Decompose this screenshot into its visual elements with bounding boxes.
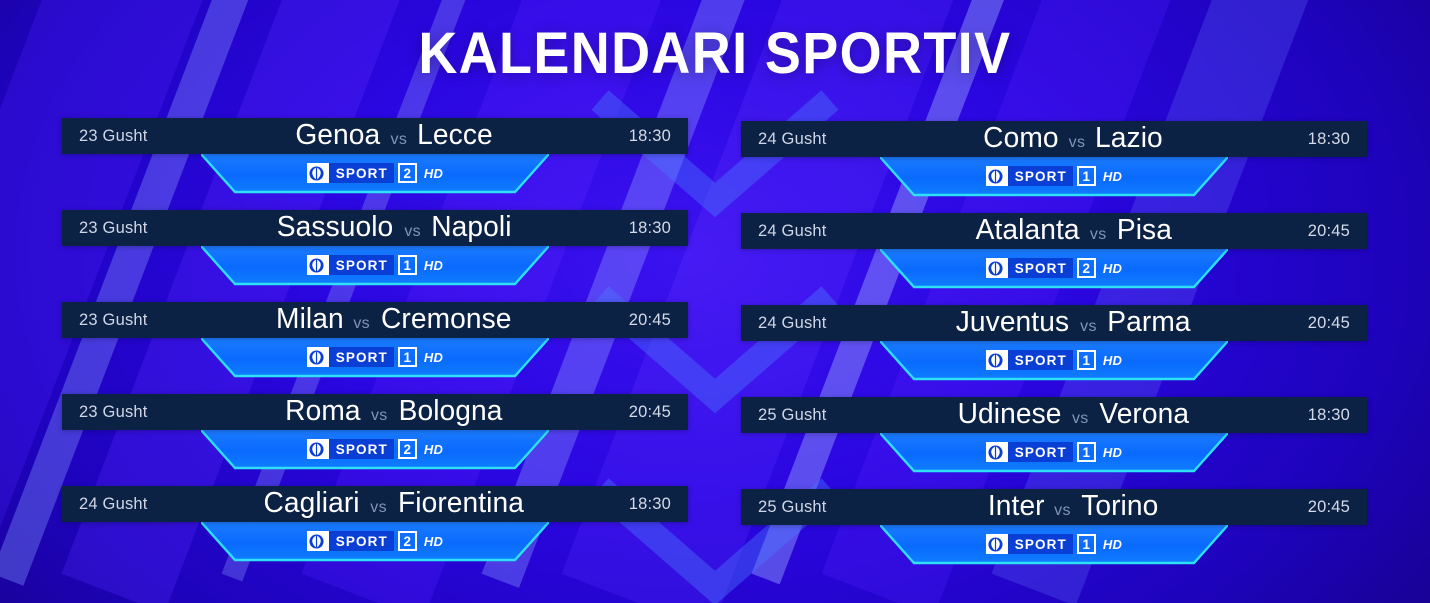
fixture: JuventusvsParma [868,308,1278,337]
channel-banner[interactable]: SPORT2HD [62,154,688,194]
match-date: 23 Gusht [79,403,189,422]
channel-quality: HD [1103,538,1122,551]
home-team: Como [983,124,1058,153]
home-team: Juventus [956,308,1069,337]
channel-banner[interactable]: SPORT1HD [62,246,688,286]
home-team: Udinese [957,400,1061,429]
channel-logo: SPORT2HD [307,531,443,551]
match-date: 23 Gusht [79,311,189,330]
match-row[interactable]: 25 GushtUdinesevsVerona18:30SPORT1HD [741,397,1367,489]
channel-number: 2 [398,531,417,551]
page-title: KALENDARI SPORTIV [418,25,1011,83]
broadcaster-logo-icon [986,534,1006,554]
channel-banner[interactable]: SPORT1HD [741,433,1367,473]
versus-label: vs [353,316,370,332]
left-column: 23 GushtGenoavsLecce18:30SPORT2HD23 Gush… [0,118,715,603]
channel-number: 1 [1077,350,1096,370]
match-date: 24 Gusht [758,314,868,333]
match-date: 24 Gusht [79,495,189,514]
match-header-bar: 23 GushtSassuolovsNapoli18:30 [62,210,688,246]
match-columns: 23 GushtGenoavsLecce18:30SPORT2HD23 Gush… [0,118,1430,603]
channel-quality: HD [424,351,443,364]
away-team: Lazio [1095,124,1163,153]
channel-quality: HD [1103,446,1122,459]
match-date: 25 Gusht [758,498,868,517]
match-header-bar: 23 GushtRomavsBologna20:45 [62,394,688,430]
match-row[interactable]: 24 GushtComovsLazio18:30SPORT1HD [741,121,1367,213]
match-row[interactable]: 24 GushtAtalantavsPisa20:45SPORT2HD [741,213,1367,305]
channel-banner[interactable]: SPORT1HD [62,338,688,378]
broadcaster-logo-icon [307,255,327,275]
match-date: 24 Gusht [758,130,868,149]
channel-quality: HD [424,535,443,548]
broadcaster-logo-icon [986,166,1006,186]
match-header-bar: 24 GushtAtalantavsPisa20:45 [741,213,1367,249]
match-header-bar: 24 GushtComovsLazio18:30 [741,121,1367,157]
home-team: Genoa [295,121,380,150]
match-time: 18:30 [1278,130,1350,149]
broadcaster-logo-icon [307,347,327,367]
channel-logo: SPORT1HD [986,534,1122,554]
match-time: 20:45 [599,403,671,422]
channel-quality: HD [1103,262,1122,275]
away-team: Torino [1081,492,1158,521]
channel-name: SPORT [1006,442,1073,462]
channel-logo: SPORT2HD [986,258,1122,278]
channel-quality: HD [424,167,443,180]
broadcaster-logo-icon [986,350,1006,370]
channel-banner[interactable]: SPORT1HD [741,341,1367,381]
fixture: ComovsLazio [868,124,1278,153]
away-team: Parma [1107,308,1190,337]
channel-number: 1 [1077,442,1096,462]
fixture: UdinesevsVerona [868,400,1278,429]
match-header-bar: 24 GushtCagliarivsFiorentina18:30 [62,486,688,522]
away-team: Lecce [417,121,493,150]
channel-logo: SPORT1HD [307,255,443,275]
away-team: Pisa [1116,216,1171,245]
channel-number: 1 [398,255,417,275]
channel-quality: HD [1103,354,1122,367]
fixture: GenoavsLecce [189,121,599,150]
channel-name: SPORT [1006,534,1073,554]
channel-number: 1 [1077,534,1096,554]
versus-label: vs [371,408,388,424]
versus-label: vs [391,132,408,148]
channel-logo: SPORT1HD [986,442,1122,462]
home-team: Roma [285,397,360,426]
match-time: 20:45 [1278,498,1350,517]
fixture: MilanvsCremonse [189,305,599,334]
broadcaster-logo-icon [986,258,1006,278]
match-row[interactable]: 23 GushtGenoavsLecce18:30SPORT2HD [62,118,688,210]
versus-label: vs [1080,319,1097,335]
match-time: 18:30 [599,219,671,238]
channel-name: SPORT [327,255,394,275]
channel-quality: HD [424,259,443,272]
match-date: 24 Gusht [758,222,868,241]
match-row[interactable]: 24 GushtCagliarivsFiorentina18:30SPORT2H… [62,486,688,578]
away-team: Fiorentina [398,489,524,518]
match-time: 20:45 [599,311,671,330]
match-header-bar: 25 GushtUdinesevsVerona18:30 [741,397,1367,433]
match-header-bar: 23 GushtMilanvsCremonse20:45 [62,302,688,338]
match-time: 20:45 [1278,314,1350,333]
versus-label: vs [1054,503,1071,519]
fixture: RomavsBologna [189,397,599,426]
match-date: 25 Gusht [758,406,868,425]
match-row[interactable]: 25 GushtIntervsTorino20:45SPORT1HD [741,489,1367,581]
channel-logo: SPORT1HD [307,347,443,367]
fixture: AtalantavsPisa [868,216,1278,245]
channel-name: SPORT [1006,166,1073,186]
title-bar: KALENDARI SPORTIV [0,0,1430,108]
match-row[interactable]: 24 GushtJuventusvsParma20:45SPORT1HD [741,305,1367,397]
broadcaster-logo-icon [307,439,327,459]
fixture: CagliarivsFiorentina [189,489,599,518]
match-date: 23 Gusht [79,127,189,146]
match-time: 18:30 [1278,406,1350,425]
broadcaster-logo-icon [307,531,327,551]
away-team: Cremonse [381,305,512,334]
broadcaster-logo-icon [307,163,327,183]
schedule-graphic: KALENDARI SPORTIV 23 GushtGenoavsLecce18… [0,0,1430,603]
channel-number: 1 [1077,166,1096,186]
channel-number: 1 [398,347,417,367]
channel-logo: SPORT1HD [986,350,1122,370]
home-team: Atalanta [975,216,1079,245]
home-team: Sassuolo [277,213,394,242]
match-time: 18:30 [599,495,671,514]
versus-label: vs [1069,135,1086,151]
channel-name: SPORT [1006,258,1073,278]
match-time: 18:30 [599,127,671,146]
match-date: 23 Gusht [79,219,189,238]
home-team: Milan [276,305,344,334]
channel-quality: HD [424,443,443,456]
channel-number: 2 [1077,258,1096,278]
match-row[interactable]: 23 GushtMilanvsCremonse20:45SPORT1HD [62,302,688,394]
channel-name: SPORT [1006,350,1073,370]
channel-banner[interactable]: SPORT2HD [62,430,688,470]
channel-number: 2 [398,439,417,459]
channel-name: SPORT [327,163,394,183]
channel-name: SPORT [327,439,394,459]
versus-label: vs [1090,227,1107,243]
versus-label: vs [1072,411,1089,427]
versus-label: vs [370,500,387,516]
match-row[interactable]: 23 GushtRomavsBologna20:45SPORT2HD [62,394,688,486]
channel-logo: SPORT2HD [307,439,443,459]
channel-logo: SPORT2HD [307,163,443,183]
channel-banner[interactable]: SPORT2HD [62,522,688,562]
channel-banner[interactable]: SPORT1HD [741,525,1367,565]
match-header-bar: 23 GushtGenoavsLecce18:30 [62,118,688,154]
home-team: Inter [988,492,1045,521]
channel-banner[interactable]: SPORT2HD [741,249,1367,289]
away-team: Verona [1099,400,1189,429]
match-header-bar: 24 GushtJuventusvsParma20:45 [741,305,1367,341]
match-row[interactable]: 23 GushtSassuolovsNapoli18:30SPORT1HD [62,210,688,302]
versus-label: vs [404,224,421,240]
right-column: 24 GushtComovsLazio18:30SPORT1HD24 Gusht… [715,118,1430,603]
channel-banner[interactable]: SPORT1HD [741,157,1367,197]
channel-name: SPORT [327,347,394,367]
fixture: SassuolovsNapoli [189,213,599,242]
channel-number: 2 [398,163,417,183]
broadcaster-logo-icon [986,442,1006,462]
fixture: IntervsTorino [868,492,1278,521]
away-team: Napoli [431,213,511,242]
channel-quality: HD [1103,170,1122,183]
channel-logo: SPORT1HD [986,166,1122,186]
match-time: 20:45 [1278,222,1350,241]
away-team: Bologna [398,397,502,426]
match-header-bar: 25 GushtIntervsTorino20:45 [741,489,1367,525]
home-team: Cagliari [264,489,360,518]
channel-name: SPORT [327,531,394,551]
